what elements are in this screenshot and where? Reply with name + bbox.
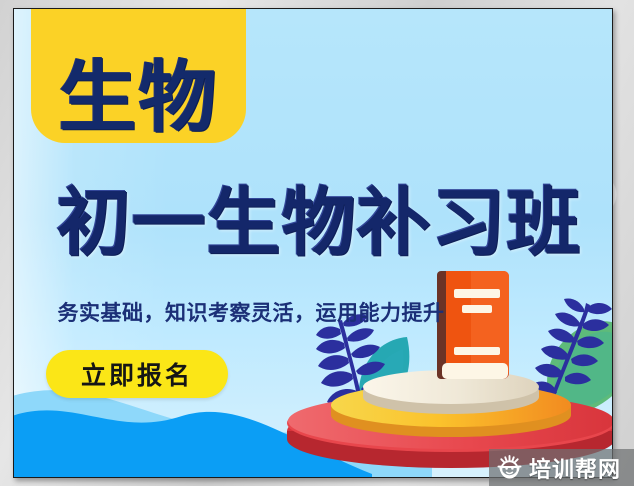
signup-button-label: 立即报名 <box>81 356 193 392</box>
subtitle-text: 务实基础，知识考察灵活，运用能力提升 <box>26 297 476 327</box>
watermark: 培训帮网 <box>489 449 634 486</box>
signup-button[interactable]: 立即报名 <box>46 350 228 398</box>
headline: 初一生物补习班 <box>24 175 613 271</box>
headline-text: 初一生物补习班 <box>57 186 582 260</box>
sun-smiley-icon <box>497 455 522 480</box>
poster-canvas: 生物 <box>13 8 613 478</box>
watermark-text: 培训帮网 <box>529 452 621 484</box>
subject-badge: 生物 <box>31 8 246 143</box>
subject-badge-label: 生物 <box>58 59 218 137</box>
